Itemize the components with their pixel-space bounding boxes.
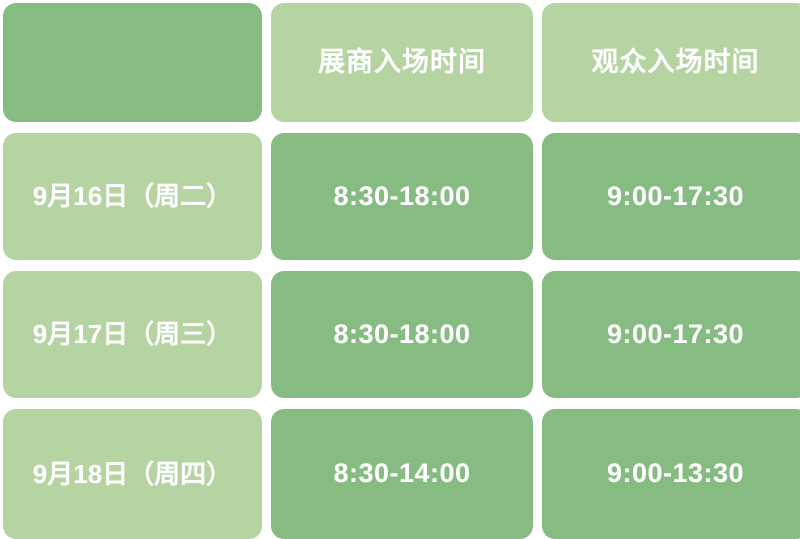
table-row: 9月17日（周三）: [3, 271, 262, 398]
table-cell-exhibitor-time: 8:30-18:00: [271, 271, 533, 398]
table-cell-visitor-time: 9:00-17:30: [542, 133, 800, 260]
column-header-visitor-label: 观众入场时间: [592, 48, 760, 78]
table-corner-cell: [3, 3, 262, 122]
visitor-time-value: 9:00-17:30: [607, 320, 744, 350]
visitor-time-value: 9:00-17:30: [607, 182, 744, 212]
column-header-exhibitor-label: 展商入场时间: [318, 48, 486, 78]
column-header-visitor: 观众入场时间: [542, 3, 800, 122]
table-cell-visitor-time: 9:00-13:30: [542, 409, 800, 539]
schedule-table: 展商入场时间 观众入场时间 9月16日（周二） 8:30-18:00 9:00-…: [0, 0, 800, 528]
row-date-label: 9月16日（周二）: [33, 182, 232, 211]
exhibitor-time-value: 8:30-14:00: [333, 459, 470, 489]
table-cell-visitor-time: 9:00-17:30: [542, 271, 800, 398]
table-cell-exhibitor-time: 8:30-18:00: [271, 133, 533, 260]
exhibitor-time-value: 8:30-18:00: [333, 182, 470, 212]
column-header-exhibitor: 展商入场时间: [271, 3, 533, 122]
table-row: 9月18日（周四）: [3, 409, 262, 539]
table-row: 9月16日（周二）: [3, 133, 262, 260]
row-date-label: 9月17日（周三）: [33, 320, 232, 349]
row-date-label: 9月18日（周四）: [33, 460, 232, 489]
table-cell-exhibitor-time: 8:30-14:00: [271, 409, 533, 539]
exhibitor-time-value: 8:30-18:00: [333, 320, 470, 350]
visitor-time-value: 9:00-13:30: [607, 459, 744, 489]
